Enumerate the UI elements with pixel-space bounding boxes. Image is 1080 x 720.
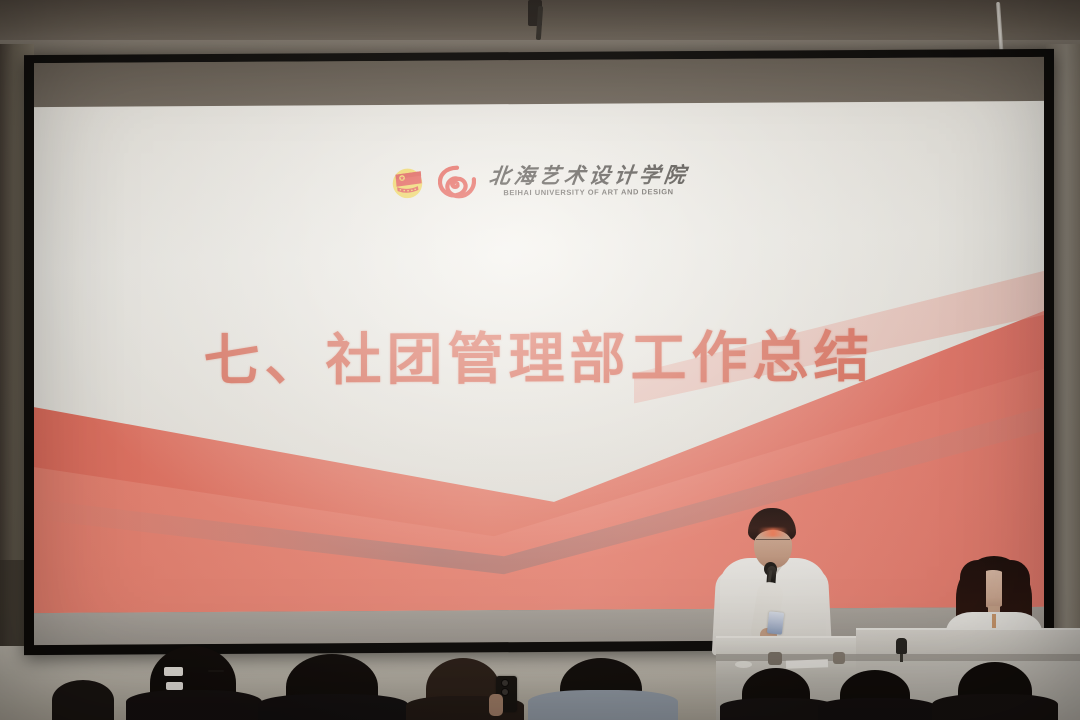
audience-hand <box>489 694 503 716</box>
hair-clip <box>164 667 183 676</box>
beihai-swirl-logo-icon <box>438 165 476 198</box>
audience-shoulders <box>818 698 936 720</box>
speaker-glasses-icon <box>756 539 790 546</box>
audience-row <box>0 610 1080 720</box>
audience-head <box>52 680 114 720</box>
hair-clip-2 <box>166 682 183 690</box>
audience-shoulders <box>258 694 408 720</box>
university-name-block: 北海艺术设计学院 BEIHAI UNIVERSITY OF ART AND DE… <box>489 165 689 197</box>
university-name-cn: 北海艺术设计学院 <box>487 165 690 187</box>
projection-screen-frame: 北海艺术设计学院 BEIHAI UNIVERSITY OF ART AND DE… <box>24 49 1054 655</box>
screenshot-root: 北海艺术设计学院 BEIHAI UNIVERSITY OF ART AND DE… <box>0 0 1080 720</box>
audience-shoulders <box>932 694 1058 720</box>
communist-youth-league-emblem-icon <box>390 165 425 200</box>
speaker-hair-highlight <box>758 528 788 537</box>
screen-unlit-top-band <box>34 57 1044 107</box>
audience-shoulders <box>528 690 678 720</box>
slide-logo-lockup: 北海艺术设计学院 BEIHAI UNIVERSITY OF ART AND DE… <box>34 161 1044 202</box>
projection-screen-surface: 北海艺术设计学院 BEIHAI UNIVERSITY OF ART AND DE… <box>34 57 1044 645</box>
phone-camera-lens-icon <box>501 679 509 687</box>
audience-glasses-icon <box>208 670 224 672</box>
phone-camera-lens-icon-2 <box>501 688 509 696</box>
university-name-en: BEIHAI UNIVERSITY OF ART AND DESIGN <box>503 187 673 197</box>
presentation-slide: 北海艺术设计学院 BEIHAI UNIVERSITY OF ART AND DE… <box>34 101 1044 613</box>
slide-headline: 七、社团管理部工作总结 <box>34 311 1044 398</box>
audience-shoulders <box>126 690 262 720</box>
